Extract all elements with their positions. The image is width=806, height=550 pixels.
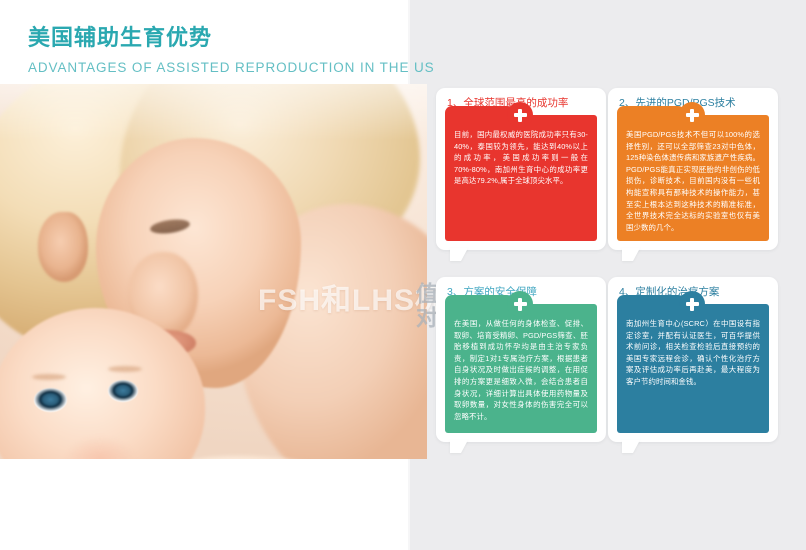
advantage-card-2[interactable]: 2、先进的PGD/PGS技术 美国PGD/PGS技术不但可以100%的选择性别，… (608, 88, 778, 250)
advantage-card-1-notch (445, 106, 513, 120)
advantage-card-1-tail (450, 248, 468, 261)
right-background-panel (408, 0, 806, 550)
hero-photo (0, 84, 427, 459)
baby-eye-left (34, 388, 67, 412)
page-header: 美国辅助生育优势 ADVANTAGES OF ASSISTED REPRODUC… (28, 24, 528, 77)
advantage-card-2-panel: 美国PGD/PGS技术不但可以100%的选择性别，还可以全部筛查23对中色体，1… (617, 115, 769, 241)
advantage-card-2-body: 美国PGD/PGS技术不但可以100%的选择性别，还可以全部筛查23对中色体，1… (626, 129, 760, 233)
page-title-cn: 美国辅助生育优势 (28, 24, 528, 52)
baby-brow-right (108, 366, 142, 372)
advantage-card-3[interactable]: 3、方案的安全保障 在美国，从做任何的身体检查、促排、取卵、培育受精卵、PGD/… (436, 277, 606, 442)
slide-root: 美国辅助生育优势 ADVANTAGES OF ASSISTED REPRODUC… (0, 0, 806, 550)
advantage-card-2-tail (622, 248, 640, 261)
plus-icon[interactable] (507, 102, 533, 128)
baby-brow-left (32, 374, 66, 380)
plus-icon[interactable] (507, 291, 533, 317)
advantage-card-3-panel: 在美国，从做任何的身体检查、促排、取卵、培育受精卵、PGD/PGS筛查、胚胎移植… (445, 304, 597, 433)
advantage-card-1-panel: 目前，国内最权威的医院成功率只有30-40%，泰国较为领先，能达到40%以上的成… (445, 115, 597, 241)
plus-icon[interactable] (679, 291, 705, 317)
advantage-card-1-body: 目前，国内最权威的医院成功率只有30-40%，泰国较为领先，能达到40%以上的成… (454, 129, 588, 187)
mother-ear (38, 212, 88, 282)
advantage-card-4[interactable]: 4、定制化的治疗方案 南加州生育中心(SCRC）在中国设有指定诊室，并配有认证医… (608, 277, 778, 442)
advantage-card-4-body: 南加州生育中心(SCRC）在中国设有指定诊室，并配有认证医生，可百华提供术前问诊… (626, 318, 760, 388)
advantage-card-4-notch (617, 295, 685, 309)
advantage-card-4-tail (622, 440, 640, 453)
advantage-card-3-tail (450, 440, 468, 453)
plus-icon[interactable] (679, 102, 705, 128)
advantage-card-2-notch (617, 106, 685, 120)
baby-eye-right (108, 380, 138, 402)
advantage-card-3-notch (445, 295, 513, 309)
photo-artwork (0, 84, 427, 459)
advantage-card-3-body: 在美国，从做任何的身体检查、促排、取卵、培育受精卵、PGD/PGS筛查、胚胎移植… (454, 318, 588, 422)
page-title-en: ADVANTAGES OF ASSISTED REPRODUCTION IN T… (28, 59, 528, 77)
advantage-card-4-panel: 南加州生育中心(SCRC）在中国设有指定诊室，并配有认证医生，可百华提供术前问诊… (617, 304, 769, 433)
photo-top-highlight (0, 84, 427, 140)
advantage-card-1[interactable]: 1、全球范围最高的成功率 目前，国内最权威的医院成功率只有30-40%，泰国较为… (436, 88, 606, 250)
